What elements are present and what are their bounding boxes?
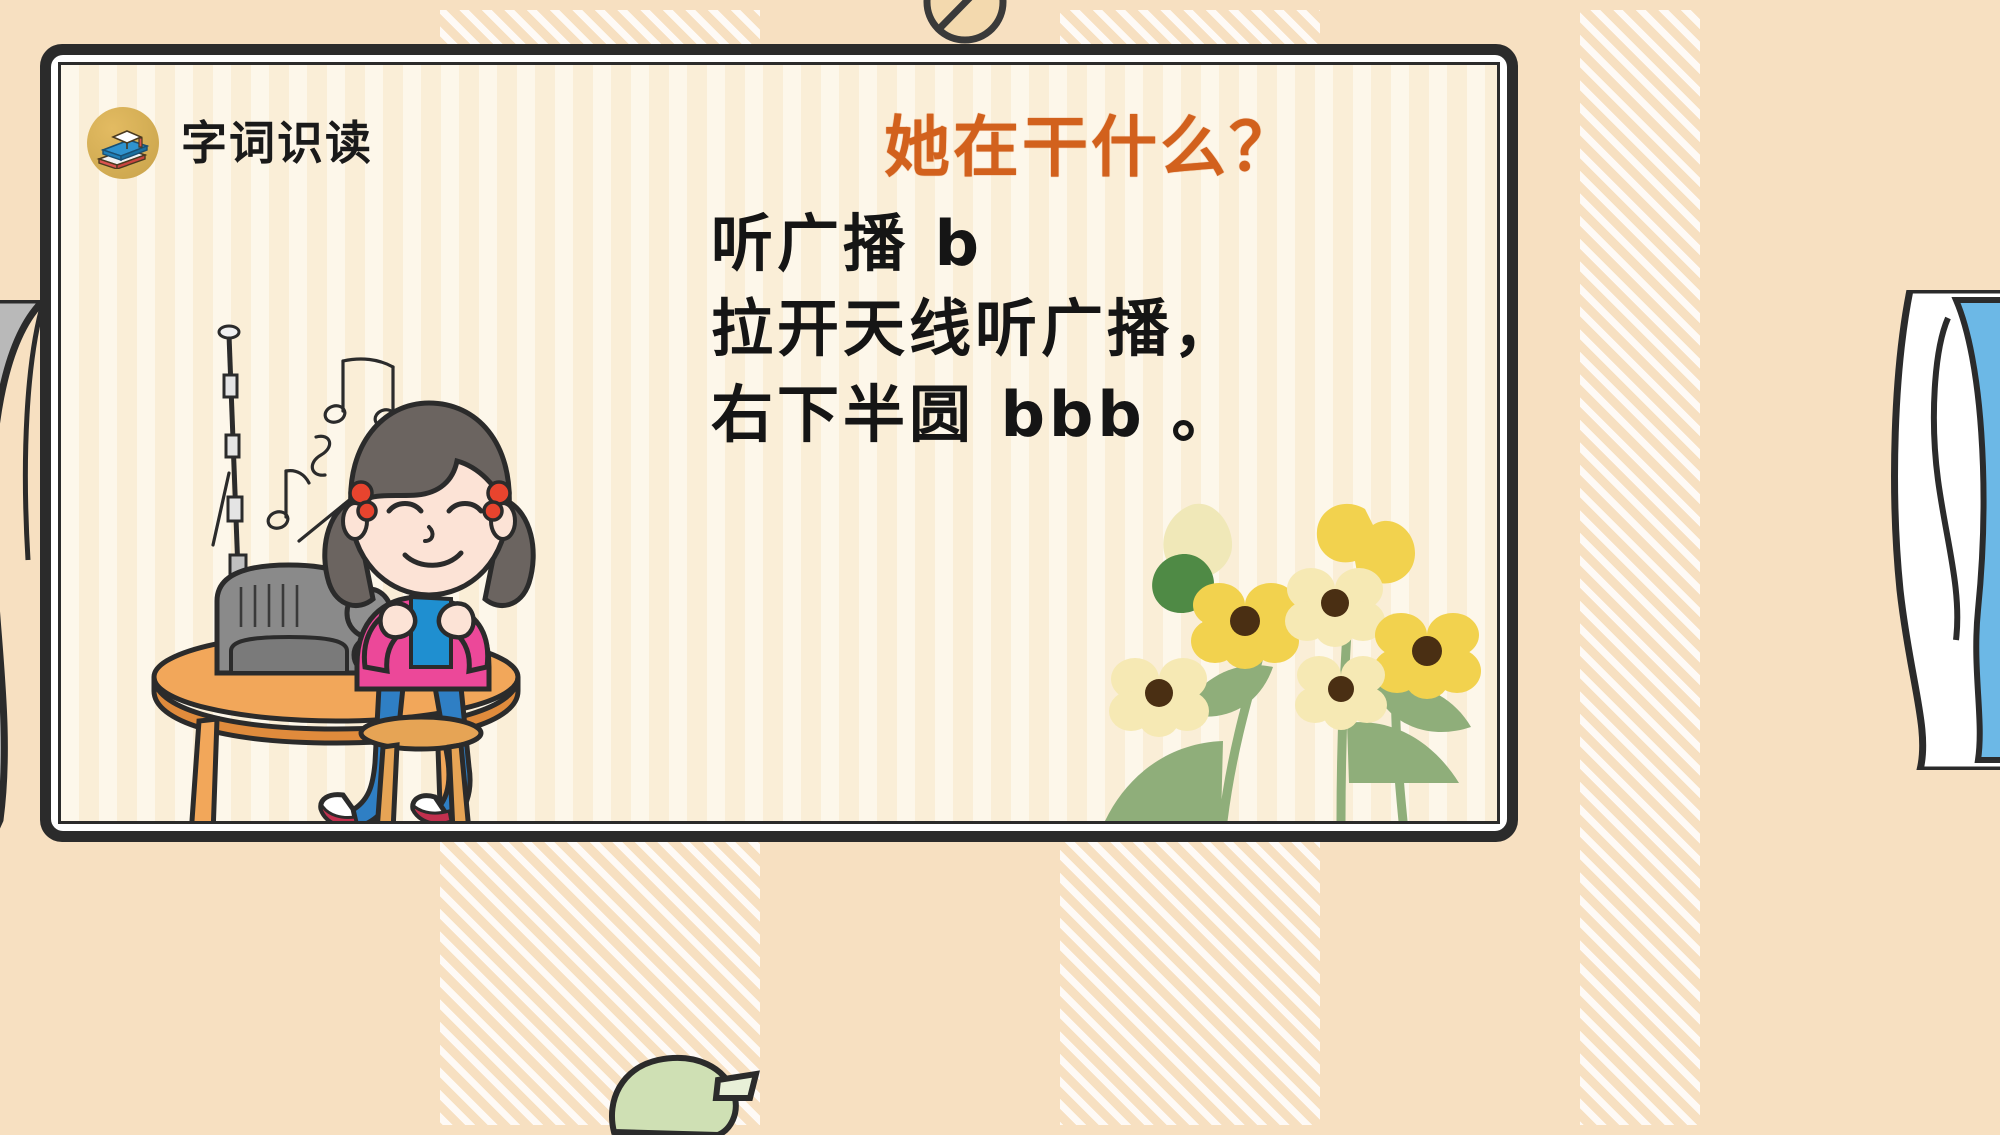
girl-listening-to-radio-illustration — [121, 315, 641, 824]
lesson-line-rhyme-first: 拉开天线听广播， — [701, 286, 1481, 372]
flowers-decoration — [1073, 491, 1493, 821]
radio-antenna — [219, 326, 246, 597]
slide-card-content: 字词识读 她在干什么？ 听广播 b 拉开天线听广播， 右下半圆 bbb 。 — [58, 62, 1500, 824]
flower — [1191, 583, 1299, 669]
section-title: 字词识读 — [181, 120, 373, 166]
slide-card-frame: 字词识读 她在干什么？ 听广播 b 拉开天线听广播， 右下半圆 bbb 。 — [40, 44, 1518, 842]
slide-card-white-border: 字词识读 她在干什么？ 听广播 b 拉开天线听广播， 右下半圆 bbb 。 — [51, 55, 1507, 831]
books-stack-icon — [87, 107, 159, 179]
table-leg — [191, 719, 217, 824]
lesson-line-pinyin-word: 听广播 b — [701, 201, 1481, 287]
lesson-text-column: 她在干什么？ 听广播 b 拉开天线听广播， 右下半圆 bbb 。 — [701, 109, 1481, 458]
section-badge: 字词识读 — [87, 107, 373, 179]
flower — [1373, 613, 1481, 699]
bottom-green-shape — [600, 1040, 760, 1135]
lesson-line-rhyme-second: 右下半圆 bbb 。 — [701, 372, 1481, 458]
lesson-question: 她在干什么？ — [701, 109, 1481, 187]
flower — [1285, 568, 1385, 647]
flower — [1109, 658, 1209, 737]
right-edge-blue-shape — [1886, 290, 2000, 770]
